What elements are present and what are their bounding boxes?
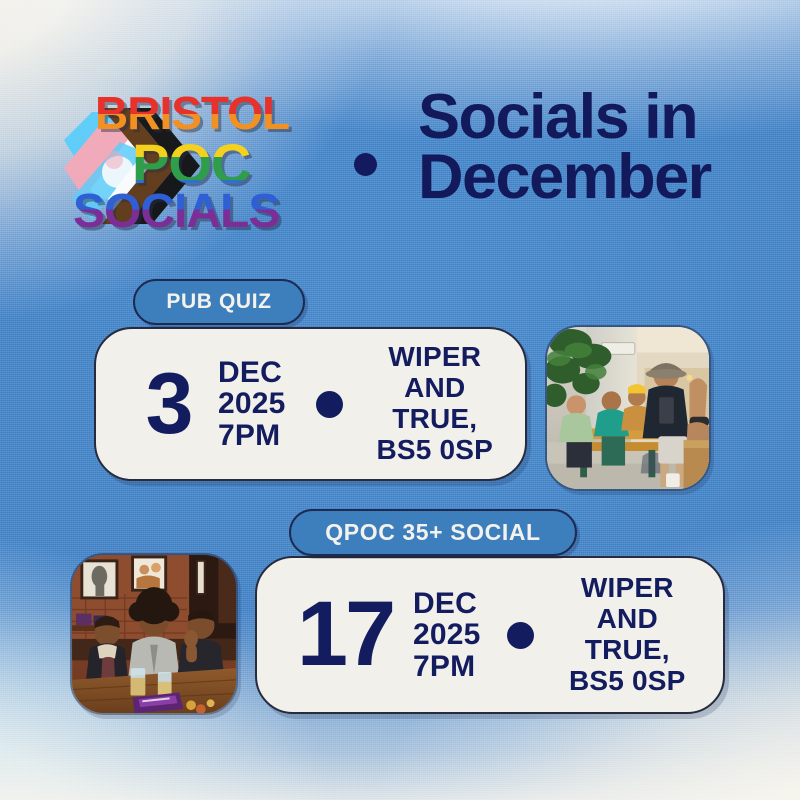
page-title-line-2: December [418,148,768,208]
event-day-number: 3 [122,369,214,440]
event-separator-dot [316,391,343,418]
page-title: Socials in December [418,88,768,208]
poster-header: BRISTOL BRISTOL POC POC SOCIALS SOCIALS … [0,0,800,262]
event-badge-pub-quiz[interactable]: PUB QUIZ [133,279,305,325]
event-time: 7PM [413,651,481,682]
event-badge-qpoc-35-social[interactable]: QPOC 35+ SOCIAL [289,509,577,556]
event-venue-line-1: WIPER AND [367,342,503,404]
event-venue-line-2: TRUE, [554,635,701,666]
event-date-stack: DEC 2025 7PM [413,588,481,682]
event-time: 7PM [218,420,286,451]
event-venue-line-2: TRUE, [367,404,503,435]
svg-text:SOCIALS: SOCIALS [73,185,279,238]
bristol-poc-socials-logo: BRISTOL BRISTOL POC POC SOCIALS SOCIALS [58,82,338,242]
event-venue-line-3: BS5 0SP [367,435,503,466]
event-venue: WIPER AND TRUE, BS5 0SP [554,573,701,696]
poster-canvas: BRISTOL BRISTOL POC POC SOCIALS SOCIALS … [0,0,800,800]
event-year: 2025 [413,619,481,650]
event-card-pub-quiz[interactable]: 3 DEC 2025 7PM WIPER AND TRUE, BS5 0SP [94,327,527,481]
event-venue-line-3: BS5 0SP [554,666,701,697]
event-day-number: 17 [281,597,409,672]
event-month: DEC [413,588,481,619]
pub-quiz-photo [545,325,711,491]
header-separator-dot [354,153,377,176]
event-card-qpoc-35-social[interactable]: 17 DEC 2025 7PM WIPER AND TRUE, BS5 0SP [255,556,725,714]
event-badge-label: QPOC 35+ SOCIAL [325,519,540,546]
event-year: 2025 [218,388,286,419]
event-separator-dot [507,622,534,649]
event-venue: WIPER AND TRUE, BS5 0SP [367,342,503,465]
event-month: DEC [218,357,286,388]
event-badge-label: PUB QUIZ [166,290,271,314]
qpoc-social-photo [70,553,238,715]
event-date-stack: DEC 2025 7PM [218,357,286,451]
event-venue-line-1: WIPER AND [554,573,701,635]
